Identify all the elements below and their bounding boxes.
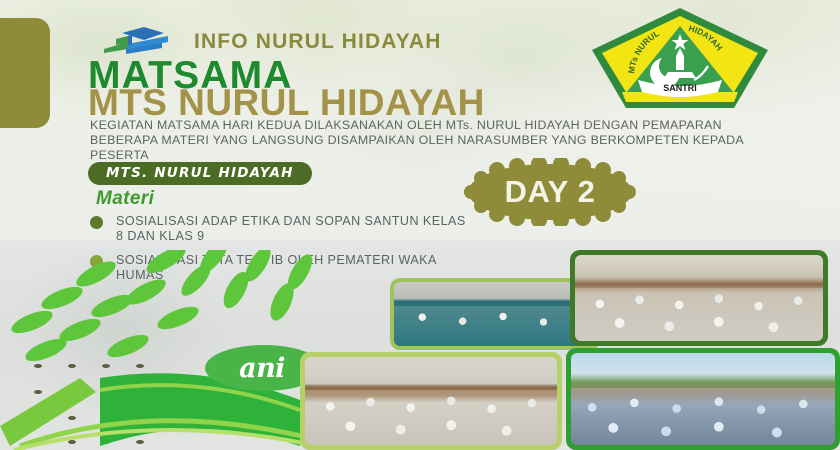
emblem-banner-text: SANTRI (663, 83, 697, 93)
day-badge: DAY 2 (455, 158, 645, 226)
bullet-dot-icon (90, 216, 103, 229)
list-item: SOSIALISASI ADAP ETIKA DAN SOPAN SANTUN … (90, 214, 470, 244)
school-name-pill: MTS. NURUL HIDAYAH (88, 162, 312, 185)
materi-heading: Materi (96, 188, 154, 210)
info-title: INFO NURUL HIDAYAH (194, 30, 442, 54)
poster-canvas: INFO NURUL HIDAYAH MTs NURUL HIDAYAH (0, 0, 840, 450)
school-emblem: MTs NURUL HIDAYAH SANTRI (588, 4, 772, 112)
photo-classroom-mats (390, 278, 600, 350)
title-subtitle: MTS NURUL HIDAYAH (88, 84, 485, 121)
description-paragraph: KEGIATAN MATSAMA HARI KEDUA DILAKSANAKAN… (90, 118, 760, 163)
left-olive-slab (0, 18, 50, 128)
day-badge-label: DAY 2 (505, 174, 596, 210)
photo-teacher-hall (300, 352, 562, 450)
photo-assembly-outdoor (566, 348, 840, 450)
materi-item-text: SOSIALISASI ADAP ETIKA DAN SOPAN SANTUN … (116, 214, 470, 244)
photo-assembly-indoor (570, 250, 828, 346)
script-badge-text: ani (239, 353, 285, 384)
